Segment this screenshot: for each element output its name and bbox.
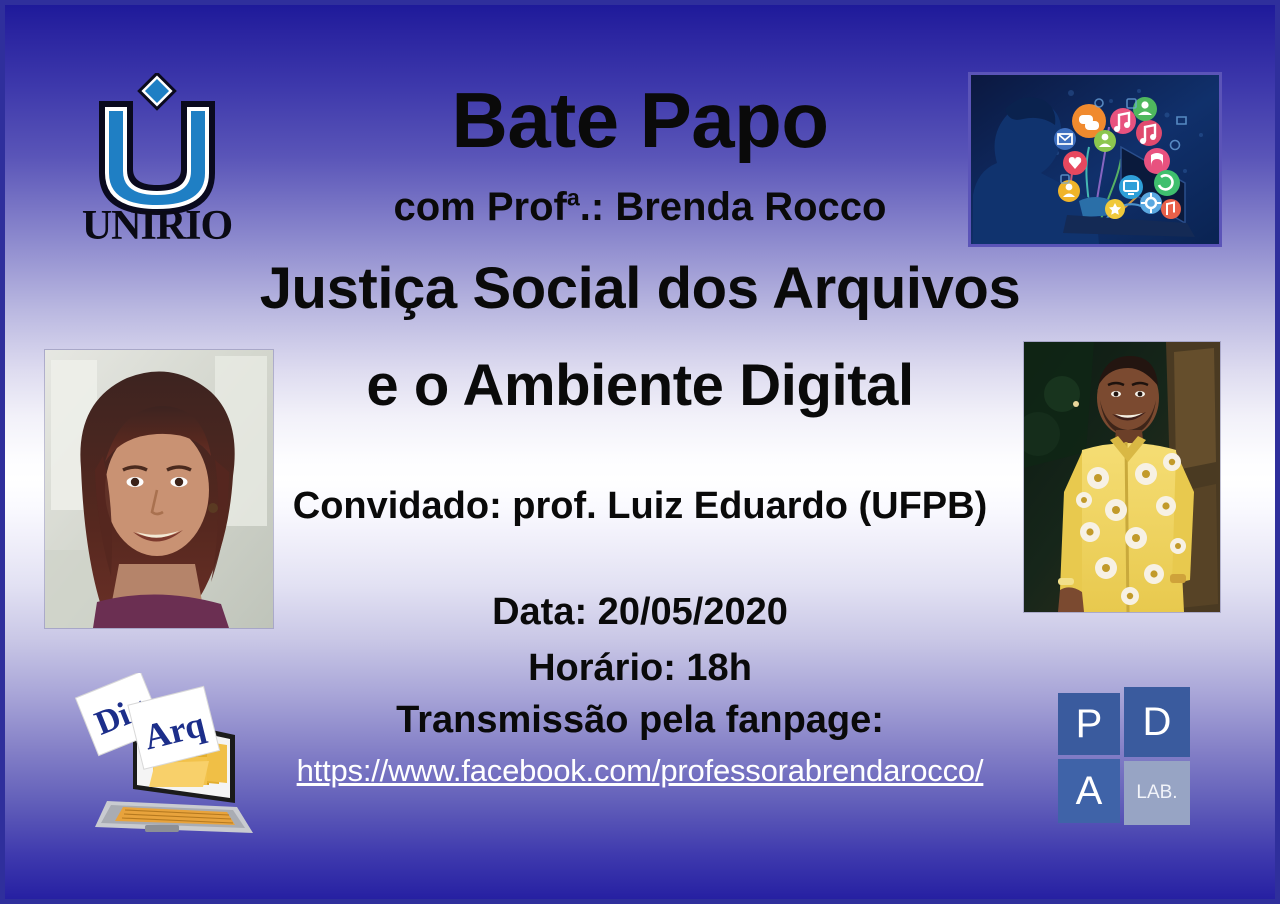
pda-tile-d: D	[1124, 687, 1190, 757]
poster-subtitle: com Profa.: Brenda Rocco	[5, 187, 1275, 227]
event-poster: UNIRIO	[0, 0, 1280, 904]
subtitle-superscript: a	[567, 185, 580, 211]
subtitle-prefix: com Prof	[394, 185, 567, 229]
pda-tile-a: A	[1058, 759, 1120, 823]
pda-lab-logo: P D A LAB.	[1058, 687, 1206, 825]
poster-heading-line-2: e o Ambiente Digital	[5, 357, 1275, 415]
guest-speaker-line: Convidado: prof. Luiz Eduardo (UFPB)	[5, 487, 1275, 525]
pda-tile-p: P	[1058, 693, 1120, 755]
poster-title: Bate Papo	[5, 81, 1275, 159]
subtitle-suffix: .: Brenda Rocco	[580, 185, 887, 229]
event-date: Data: 20/05/2020	[5, 593, 1275, 631]
poster-heading-line-1: Justiça Social dos Arquivos	[5, 260, 1275, 318]
digarq-logo: Dig Arq	[67, 673, 259, 851]
pda-tile-lab: LAB.	[1124, 761, 1190, 825]
